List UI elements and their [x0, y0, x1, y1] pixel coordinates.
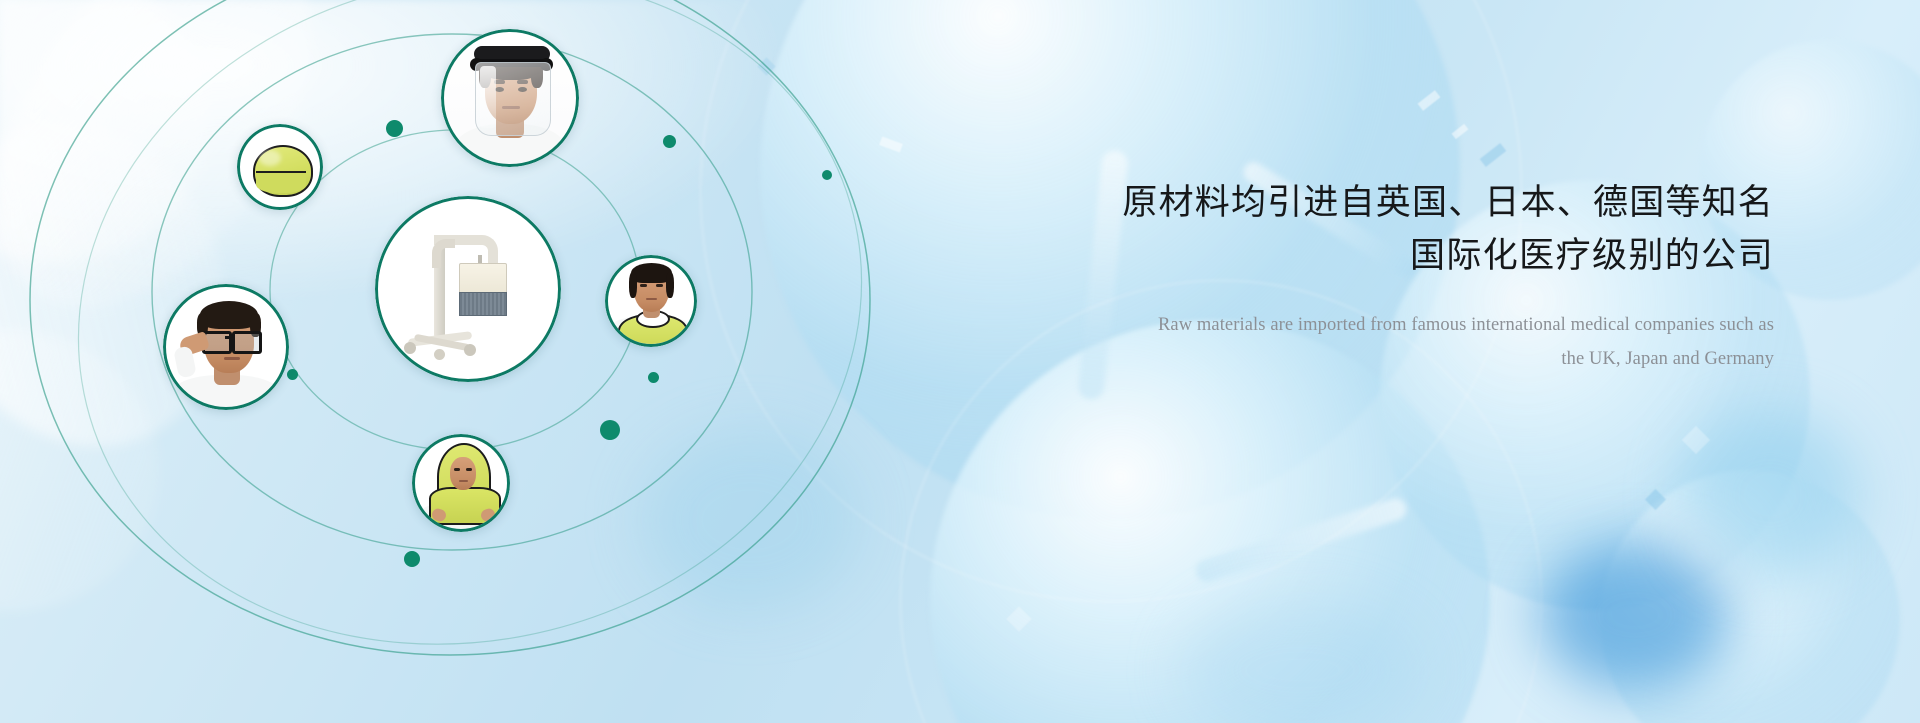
orbit-dot-2 — [663, 135, 676, 148]
node-leaded-eyewear-man[interactable] — [163, 284, 289, 410]
orbit-dot-5 — [600, 420, 620, 440]
node-face-shield-technician[interactable] — [441, 29, 579, 167]
fleck-1 — [1418, 90, 1441, 111]
face-shield-technician-photo — [444, 32, 576, 164]
protective-hood-woman-photo — [415, 437, 507, 529]
fleck-2 — [1452, 124, 1469, 139]
node-protective-hood-woman[interactable] — [412, 434, 510, 532]
node-thyroid-collar-woman[interactable] — [605, 255, 697, 347]
fleck-6 — [1006, 606, 1031, 631]
molecule-sphere-mid — [930, 320, 1490, 723]
headline-line-1: 原材料均引进自英国、日本、德国等知名 — [1094, 176, 1774, 229]
mobile-x-ray-barrier-photo — [378, 199, 558, 379]
molecule-bond-diagonal — [1193, 496, 1409, 585]
orbit-dot-7 — [822, 170, 832, 180]
accent-haze-blue — [1540, 540, 1730, 690]
accent-haze-teal — [1680, 410, 1860, 580]
accent-haze-soft — [1180, 600, 1420, 723]
orbit-dot-3 — [287, 369, 298, 380]
headline-line-2: 国际化医疗级别的公司 — [1094, 229, 1774, 282]
molecule-sphere-small — [1600, 470, 1900, 723]
hero-copy: 原材料均引进自英国、日本、德国等知名 国际化医疗级别的公司 Raw materi… — [1094, 176, 1774, 376]
node-lead-cap[interactable] — [237, 124, 323, 210]
fleck-4 — [1682, 426, 1710, 454]
orbit-dot-4 — [648, 372, 659, 383]
lead-cap-photo — [240, 127, 320, 207]
orbit-dot-6 — [404, 551, 420, 567]
orbit-dot-1 — [386, 120, 403, 137]
hero-banner: 原材料均引进自英国、日本、德国等知名 国际化医疗级别的公司 Raw materi… — [0, 0, 1920, 723]
subtitle: Raw materials are imported from famous i… — [1094, 308, 1774, 376]
fleck-3 — [1480, 143, 1507, 167]
node-mobile-x-ray-barrier[interactable] — [375, 196, 561, 382]
fleck-5 — [1645, 489, 1666, 510]
leaded-eyewear-man-photo — [166, 287, 286, 407]
thyroid-collar-woman-photo — [608, 258, 694, 344]
subtitle-line-1: Raw materials are imported from famous i… — [1158, 315, 1774, 335]
subtitle-line-2: the UK, Japan and Germany — [1094, 342, 1774, 376]
